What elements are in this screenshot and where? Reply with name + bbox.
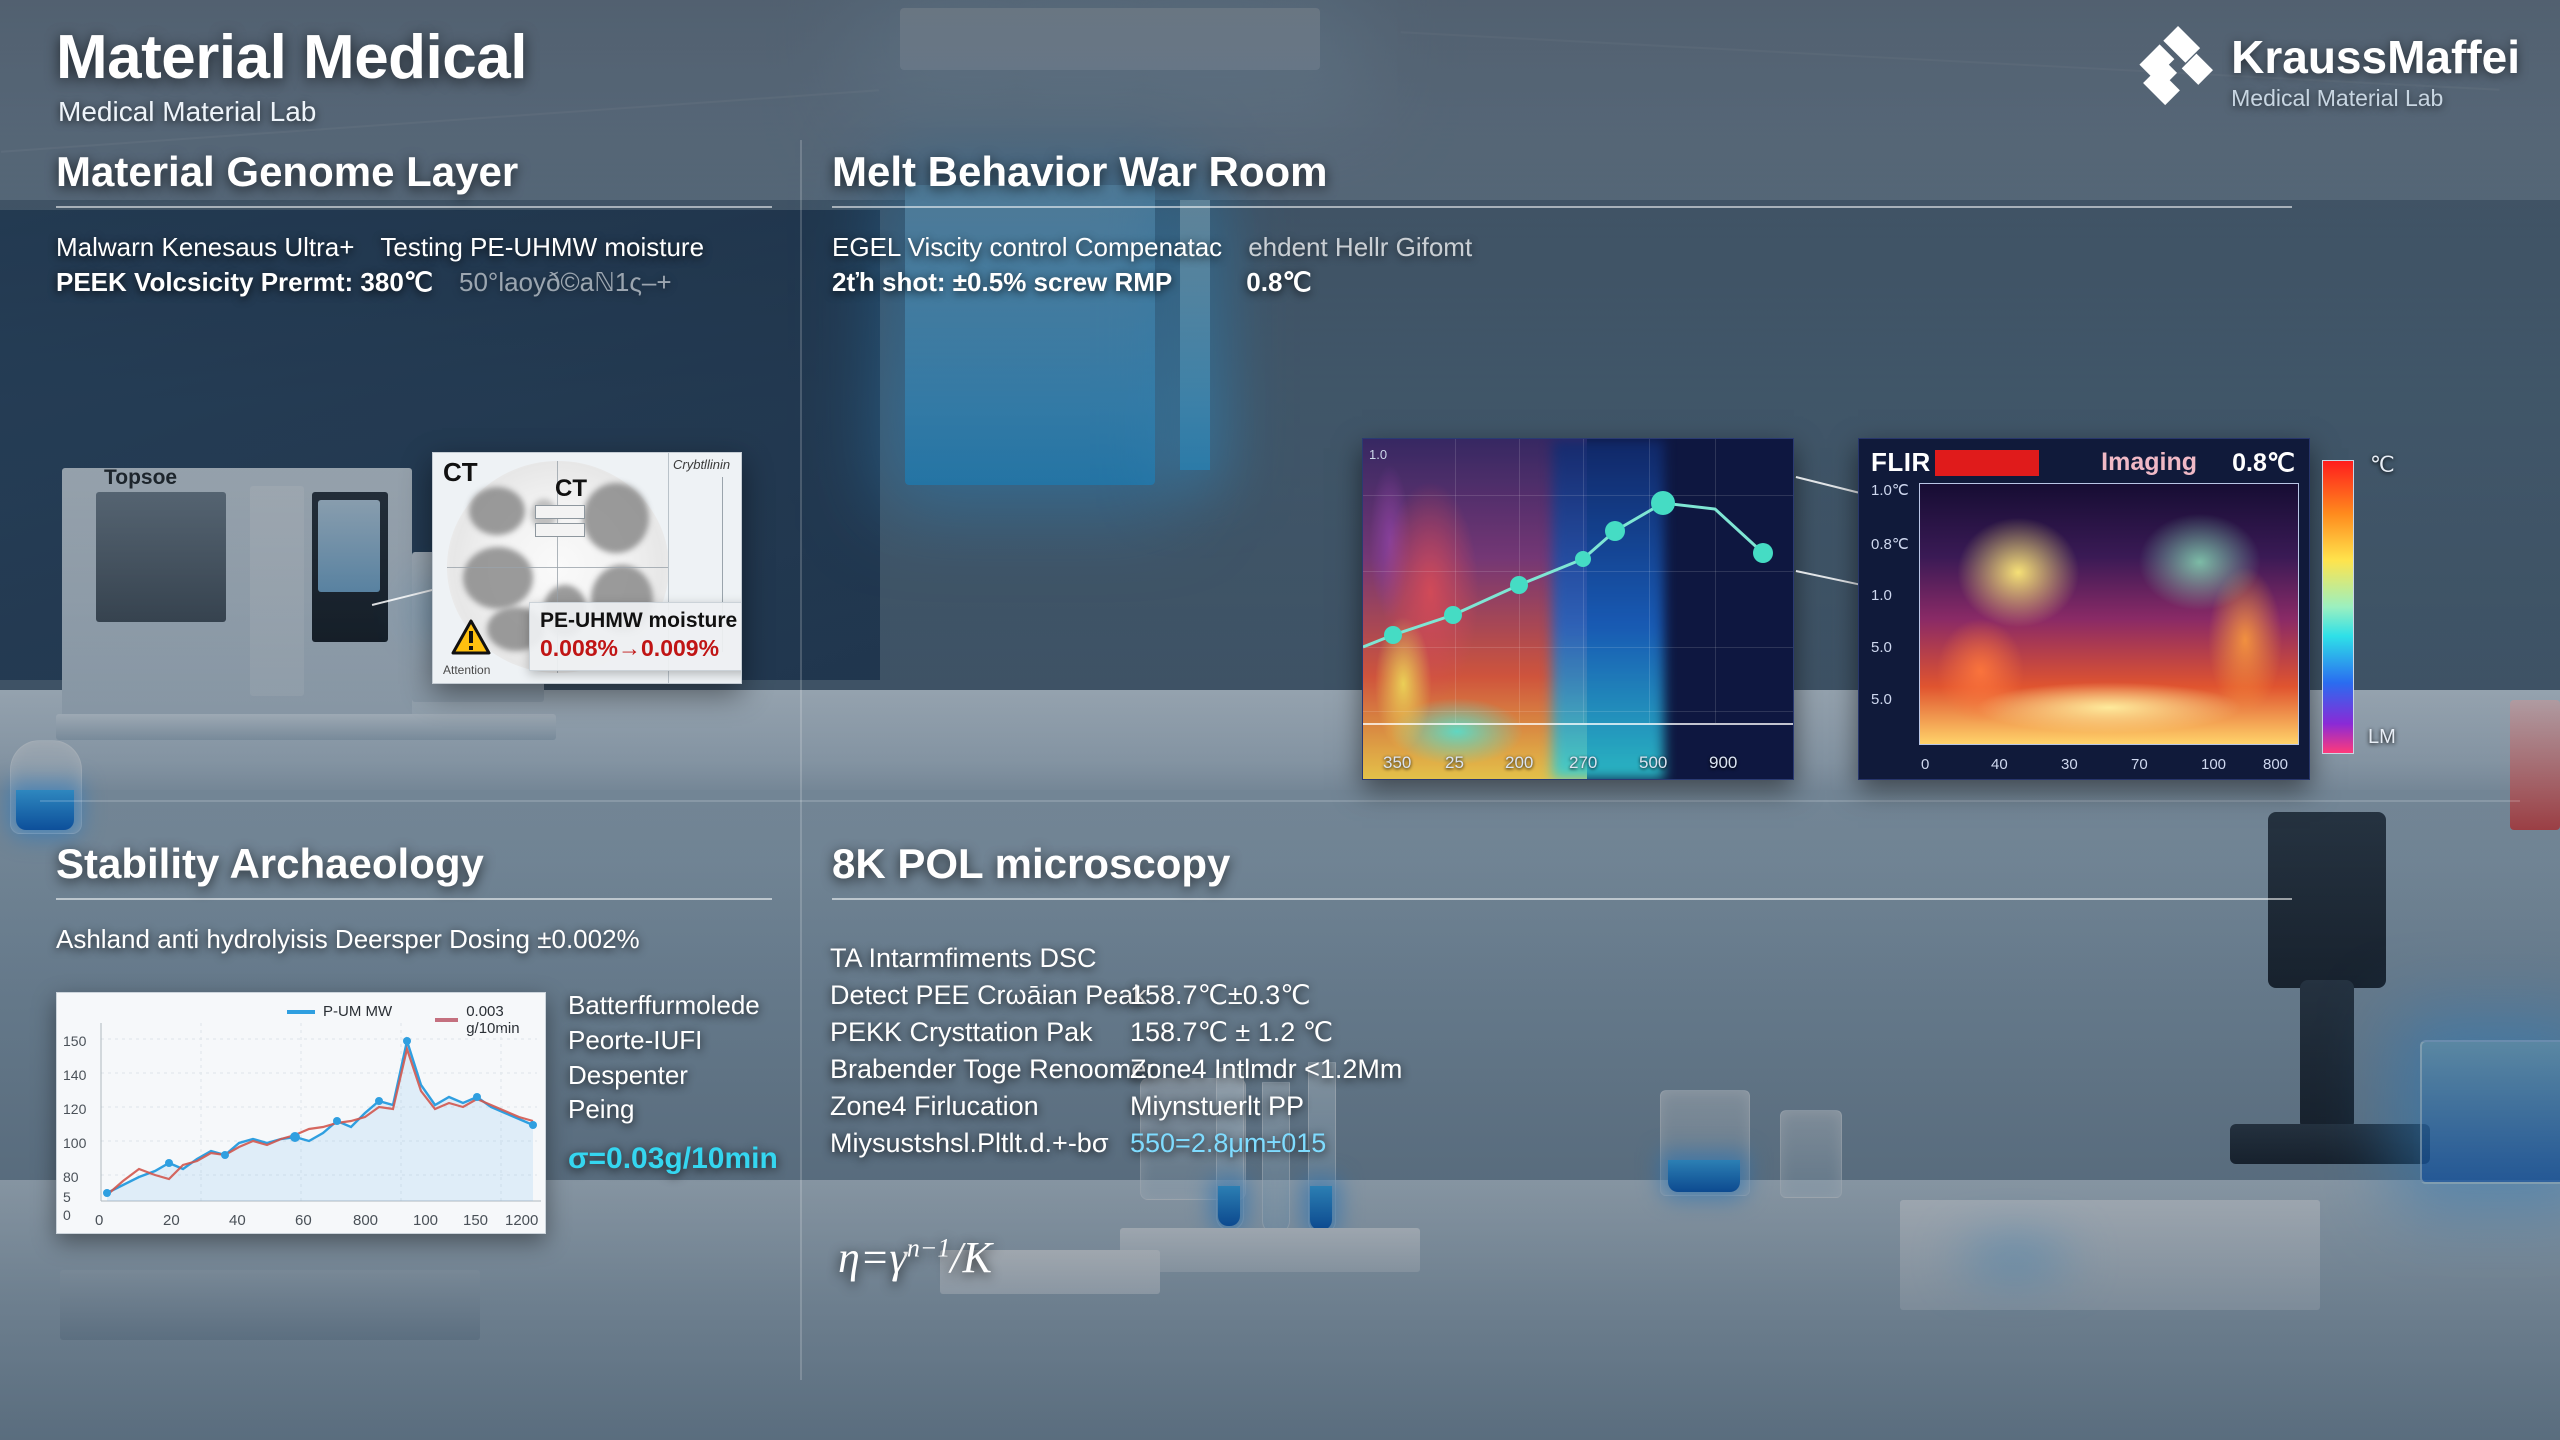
quadrant-heading: Melt Behavior War Room [832, 148, 2292, 196]
heading-rule [832, 206, 2292, 208]
note-line: Peorte-IUFI [568, 1023, 778, 1058]
formula-k: K [963, 1233, 992, 1282]
flir-y-tick: 0.8℃ [1871, 535, 1909, 553]
ct-label-center: CT [555, 475, 587, 503]
heading-rule [832, 898, 2292, 900]
melt-line1b: ehdent Hellr Gifomt [1248, 230, 1472, 265]
flir-x-tick: 800 [2263, 756, 2288, 773]
flir-x-tick: 30 [2061, 756, 2078, 773]
logo-wordmark: KraussMaffei [2231, 34, 2520, 80]
logo-tagline: Medical Material Lab [2231, 87, 2520, 110]
flir-y-tick: 1.0 [1871, 587, 1892, 604]
melt-x-tick: 350 [1383, 753, 1411, 773]
ct-callout-value: 0.008%→0.009% [540, 635, 742, 662]
formula-exponent: n−1 [907, 1233, 951, 1262]
row-value: Zone4 Intlmdr <1.2Mm [1130, 1051, 1402, 1088]
table-row: Miysustshsl.Pltlt.d.+-bσ 550=2.8μm±015 [830, 1125, 1402, 1162]
flir-x-tick: 70 [2131, 756, 2148, 773]
stability-y-tick: 5 [63, 1189, 71, 1205]
row-key: Zone4 Firlucation [830, 1088, 1130, 1125]
colorbar-bottom-label: LM [2368, 726, 2396, 749]
stability-y-tick: 150 [63, 1033, 86, 1049]
sigma-value: σ=0.03g/10min [568, 1139, 778, 1179]
flir-brand-bar: FLIR [1871, 447, 2039, 478]
flir-y-tick: 5.0 [1871, 691, 1892, 708]
ct-scan-card: CT CT Crybtllinin Attention PE-UHMW mois… [432, 452, 742, 684]
machine-label: Topsoe [104, 466, 177, 490]
note-line: Despenter [568, 1058, 778, 1093]
stability-y-tick: 0 [63, 1207, 71, 1223]
flir-y-tick: 5.0 [1871, 639, 1892, 656]
flir-red-block [1935, 450, 2039, 476]
quadrant-melt-behavior: Melt Behavior War Room EGEL Viscity cont… [832, 148, 2292, 300]
melt-line2a: 2ťh shot: ±0.5% screw RMP [832, 265, 1172, 300]
stability-y-tick: 120 [63, 1101, 86, 1117]
ct-label-corner: CT [443, 457, 478, 488]
pol-data-table: TA Intarmfiments DSC Detect PEE Crωāian … [830, 940, 1402, 1162]
quadrant-pol-microscopy: 8K POL microscopy [832, 840, 2292, 900]
stability-x-tick: 20 [163, 1212, 180, 1229]
page-title: Material Medical [56, 22, 527, 93]
stability-archaeology-chart: P-UM MW 0.003 g/10min [56, 992, 546, 1234]
table-row: Zone4 Firlucation Miynstuerlt PP [830, 1088, 1402, 1125]
flir-y-tick: 1.0℃ [1871, 481, 1909, 499]
page-subtitle: Medical Material Lab [58, 96, 316, 128]
diamond-blocks-icon [2121, 26, 2213, 118]
thermal-image [1919, 483, 2299, 745]
ct-callout: PE-UHMW moisture 0.008%→0.009% [529, 602, 742, 671]
flir-leader-line [1796, 570, 1859, 585]
viscosity-formula: η=γn−1/K [838, 1232, 992, 1283]
flir-temperature: 0.8℃ [2232, 448, 2295, 478]
stability-x-tick: 40 [229, 1212, 246, 1229]
stability-x-tick: 1200 [505, 1212, 538, 1229]
row-value: 158.7℃±0.3℃ [1130, 977, 1311, 1014]
table-row: TA Intarmfiments DSC [830, 940, 1402, 977]
stability-y-tick: 140 [63, 1067, 86, 1083]
melt-line-series [1363, 439, 1793, 723]
flir-brand: FLIR [1871, 447, 1931, 478]
table-row: Brabender Toge Renoomer Zone4 Intlmdr <1… [830, 1051, 1402, 1088]
row-key: Detect PEE Crωāian Peak [830, 977, 1130, 1014]
stability-x-tick: 150 [463, 1212, 488, 1229]
quadrant-body: Malwarn Kenesaus Ultra+ Testing PE-UHMW … [56, 230, 772, 300]
row-key: TA Intarmfiments DSC [830, 940, 1130, 977]
stability-x-tick: 800 [353, 1212, 378, 1229]
stability-y-tick: 100 [63, 1135, 86, 1151]
melt-x-tick: 25 [1445, 753, 1464, 773]
flir-x-tick: 100 [2201, 756, 2226, 773]
ct-callout-title: PE-UHMW moisture [540, 609, 742, 633]
stability-x-tick: 0 [95, 1212, 103, 1229]
flir-mode-label: Imaging [2101, 448, 2197, 477]
heading-rule [56, 206, 772, 208]
melt-y-tick: 1.0 [1369, 447, 1387, 462]
genome-line1b: Testing PE-UHMW moisture [380, 230, 704, 265]
row-value: 158.7℃ ± 1.2 ℃ [1130, 1014, 1333, 1051]
melt-viscosity-chart: 1.0 350 25 200 270 500 900 [1362, 438, 1794, 780]
row-key: PEKK Crysttation Pak [830, 1014, 1130, 1051]
stability-x-tick: 100 [413, 1212, 438, 1229]
heading-rule [56, 898, 772, 900]
melt-x-tick: 900 [1709, 753, 1737, 773]
ct-warning-caption: Attention [443, 663, 490, 677]
thermal-colorbar [2322, 460, 2354, 754]
melt-x-tick: 200 [1505, 753, 1533, 773]
colorbar-top-label: ℃ [2370, 452, 2395, 478]
stability-plot [57, 993, 545, 1233]
row-value: 550=2.8μm±015 [1130, 1125, 1326, 1162]
row-divider [40, 800, 2520, 802]
table-row: Detect PEE Crωāian Peak 158.7℃±0.3℃ [830, 977, 1402, 1014]
quadrant-stability: Stability Archaeology Ashland anti hydro… [56, 840, 772, 957]
table-row: PEKK Crysttation Pak 158.7℃ ± 1.2 ℃ [830, 1014, 1402, 1051]
stability-y-tick: 80 [63, 1169, 79, 1185]
note-line: Batterffurmolede [568, 988, 778, 1023]
ct-side-label: Crybtllinin [673, 457, 730, 472]
genome-line1a: Malwarn Kenesaus Ultra+ [56, 230, 354, 265]
genome-line2a: PEEK Volcsicity Prermt: 380℃ [56, 265, 433, 300]
stability-x-tick: 60 [295, 1212, 312, 1229]
melt-x-tick: 270 [1569, 753, 1597, 773]
melt-line2b: 0.8℃ [1246, 265, 1311, 300]
quadrant-body: Ashland anti hydrolyisis Deersper Dosing… [56, 922, 772, 957]
column-divider [800, 140, 802, 1380]
quadrant-body: EGEL Viscity control Compenatac ehdent H… [832, 230, 2292, 300]
melt-line1a: EGEL Viscity control Compenatac [832, 230, 1222, 265]
stability-line1: Ashland anti hydrolyisis Deersper Dosing… [56, 922, 772, 957]
quadrant-heading: Stability Archaeology [56, 840, 772, 888]
brand-logo: KraussMaffei Medical Material Lab [2121, 26, 2520, 118]
row-value: Miynstuerlt PP [1130, 1088, 1304, 1125]
genome-line2b: 50°laoyð©aℕ1ς–+ [459, 265, 672, 300]
stability-side-note: Batterffurmolede Peorte-IUFI Despenter P… [568, 988, 778, 1180]
row-key: Brabender Toge Renoomer [830, 1051, 1130, 1088]
flir-thermal-panel: FLIR Imaging 0.8℃ 1.0℃ 0.8℃ 1.0 5.0 5.0 … [1858, 438, 2310, 780]
quadrant-heading: 8K POL microscopy [832, 840, 2292, 888]
flir-leader-line [1796, 476, 1858, 493]
row-key: Miysustshsl.Pltlt.d.+-bσ [830, 1125, 1130, 1162]
quadrant-material-genome: Material Genome Layer Malwarn Kenesaus U… [56, 148, 772, 300]
poster-canvas: Material Medical Medical Material Lab Kr… [0, 0, 2560, 1440]
flir-x-tick: 40 [1991, 756, 2008, 773]
quadrant-heading: Material Genome Layer [56, 148, 772, 196]
flir-x-tick: 0 [1921, 756, 1929, 773]
formula-base: η=γ [838, 1233, 907, 1282]
warning-triangle-icon [451, 619, 491, 655]
note-line: Peing [568, 1092, 778, 1127]
melt-x-tick: 500 [1639, 753, 1667, 773]
